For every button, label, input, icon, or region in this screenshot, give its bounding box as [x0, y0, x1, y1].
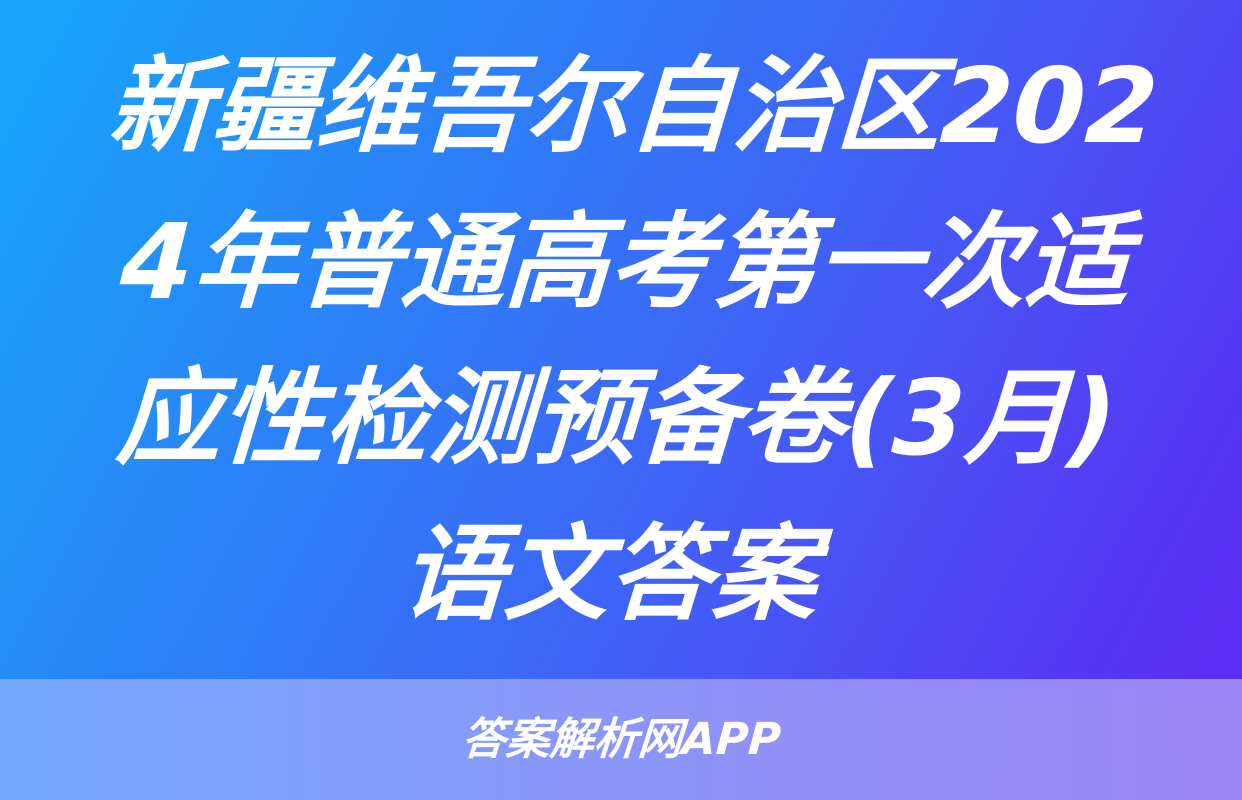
cover-card: 新疆维吾尔自治区2024年普通高考第一次适应性检测预备卷(3月)语文答案 答案解…	[0, 0, 1242, 800]
promo-band[interactable]: 答案解析网APP	[0, 679, 1242, 800]
promo-band-label: 答案解析网APP	[460, 718, 782, 762]
page-title: 新疆维吾尔自治区2024年普通高考第一次适应性检测预备卷(3月)语文答案	[65, 28, 1178, 652]
title-block: 新疆维吾尔自治区2024年普通高考第一次适应性检测预备卷(3月)语文答案	[0, 0, 1242, 680]
